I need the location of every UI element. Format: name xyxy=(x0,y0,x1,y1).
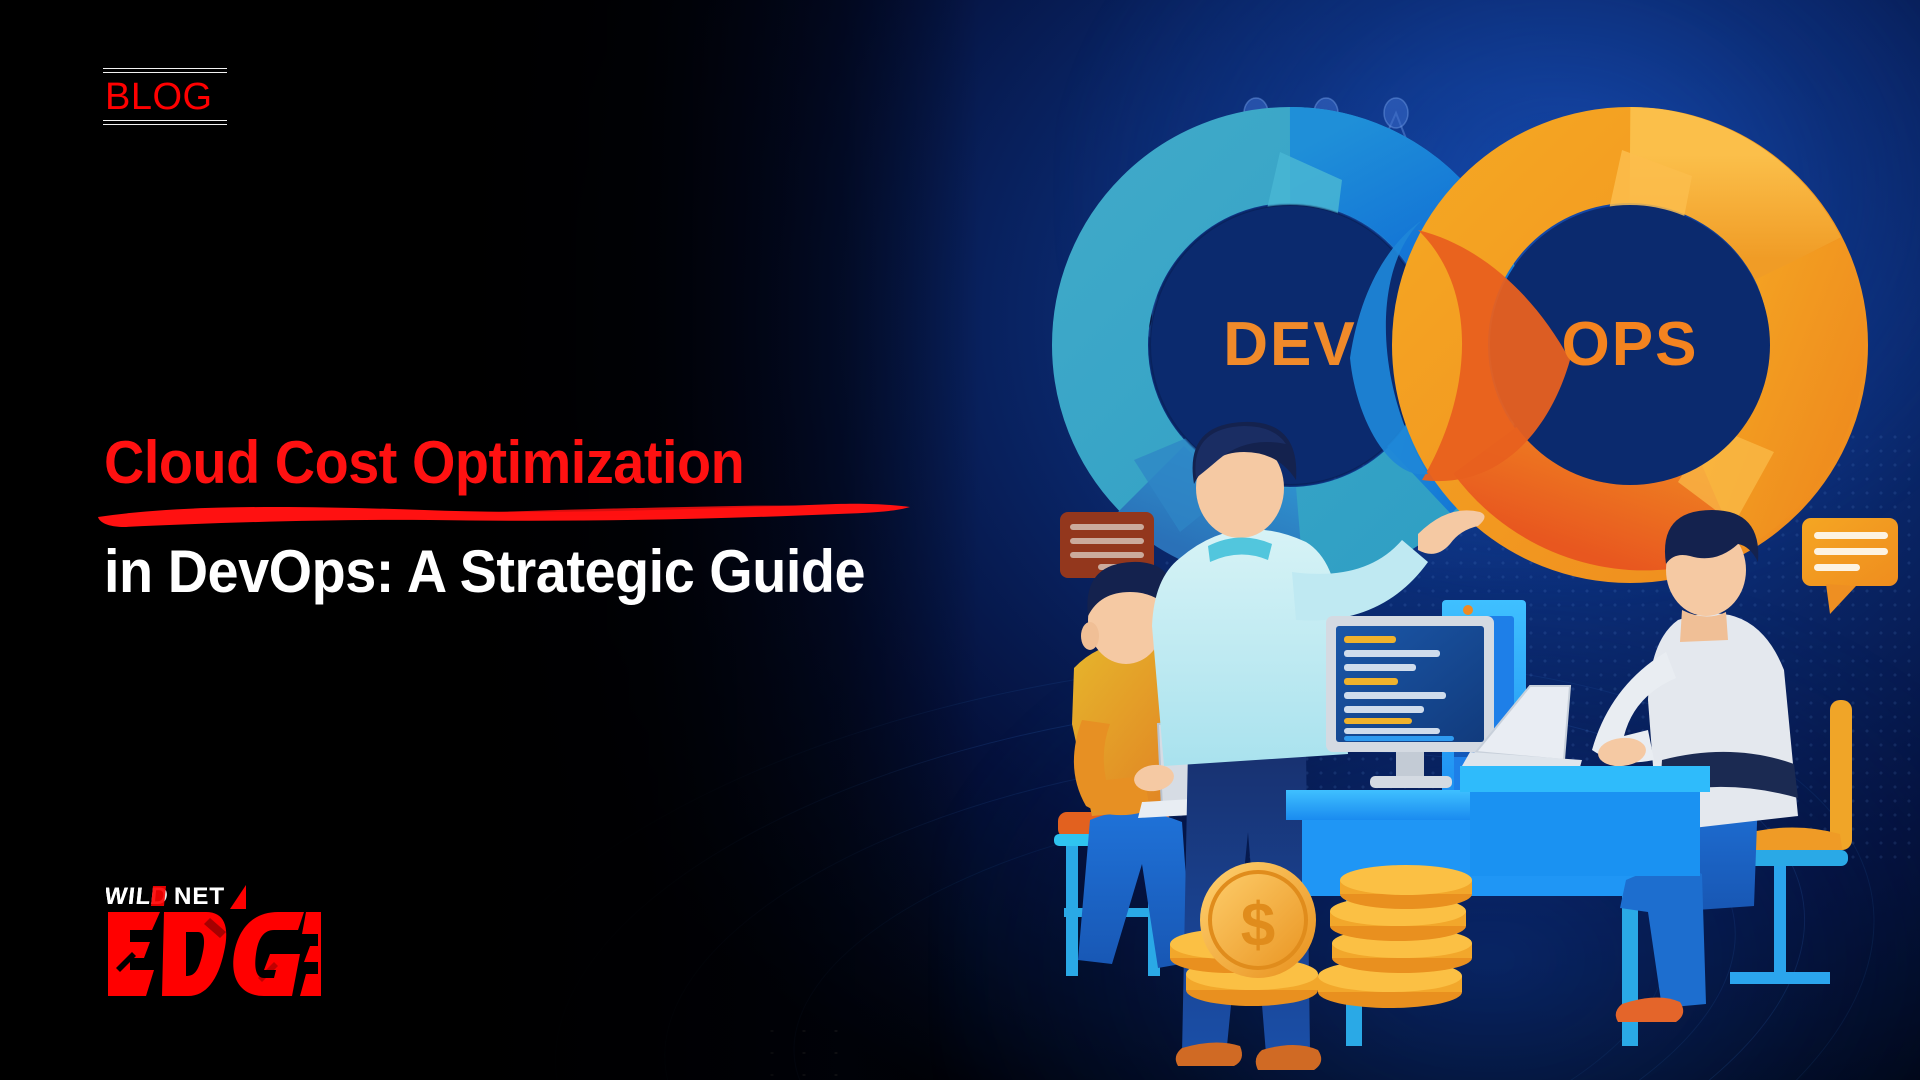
chat-bubble-right xyxy=(1802,518,1898,614)
eyebrow-rule-bottom-1 xyxy=(103,120,227,121)
wildnet-edge-logo[interactable]: WIL D NET WIL NET xyxy=(106,882,321,1000)
blog-eyebrow: BLOG xyxy=(103,68,227,125)
eyebrow-rule-bottom-2 xyxy=(103,124,227,125)
infinity-dev-label: DEV xyxy=(1223,310,1356,379)
devops-illustration: DEV OPS xyxy=(1030,60,1920,1080)
headline-line-1: Cloud Cost Optimization xyxy=(104,432,744,493)
headline-block: Cloud Cost Optimization in DevOps: A Str… xyxy=(104,432,1104,602)
headline-brush-underline xyxy=(94,496,914,530)
headline-line-2: in DevOps: A Strategic Guide xyxy=(104,541,1034,602)
svg-text:WIL: WIL xyxy=(106,883,153,910)
svg-text:$: $ xyxy=(1241,891,1275,960)
svg-text:NET: NET xyxy=(174,883,225,910)
infinity-ops-label: OPS xyxy=(1562,310,1699,379)
banner-canvas: DEV OPS xyxy=(0,0,1920,1080)
eyebrow-rule-top-1 xyxy=(103,68,227,69)
blog-label: BLOG xyxy=(103,73,227,120)
logo-edge-wordmark xyxy=(106,908,321,1000)
